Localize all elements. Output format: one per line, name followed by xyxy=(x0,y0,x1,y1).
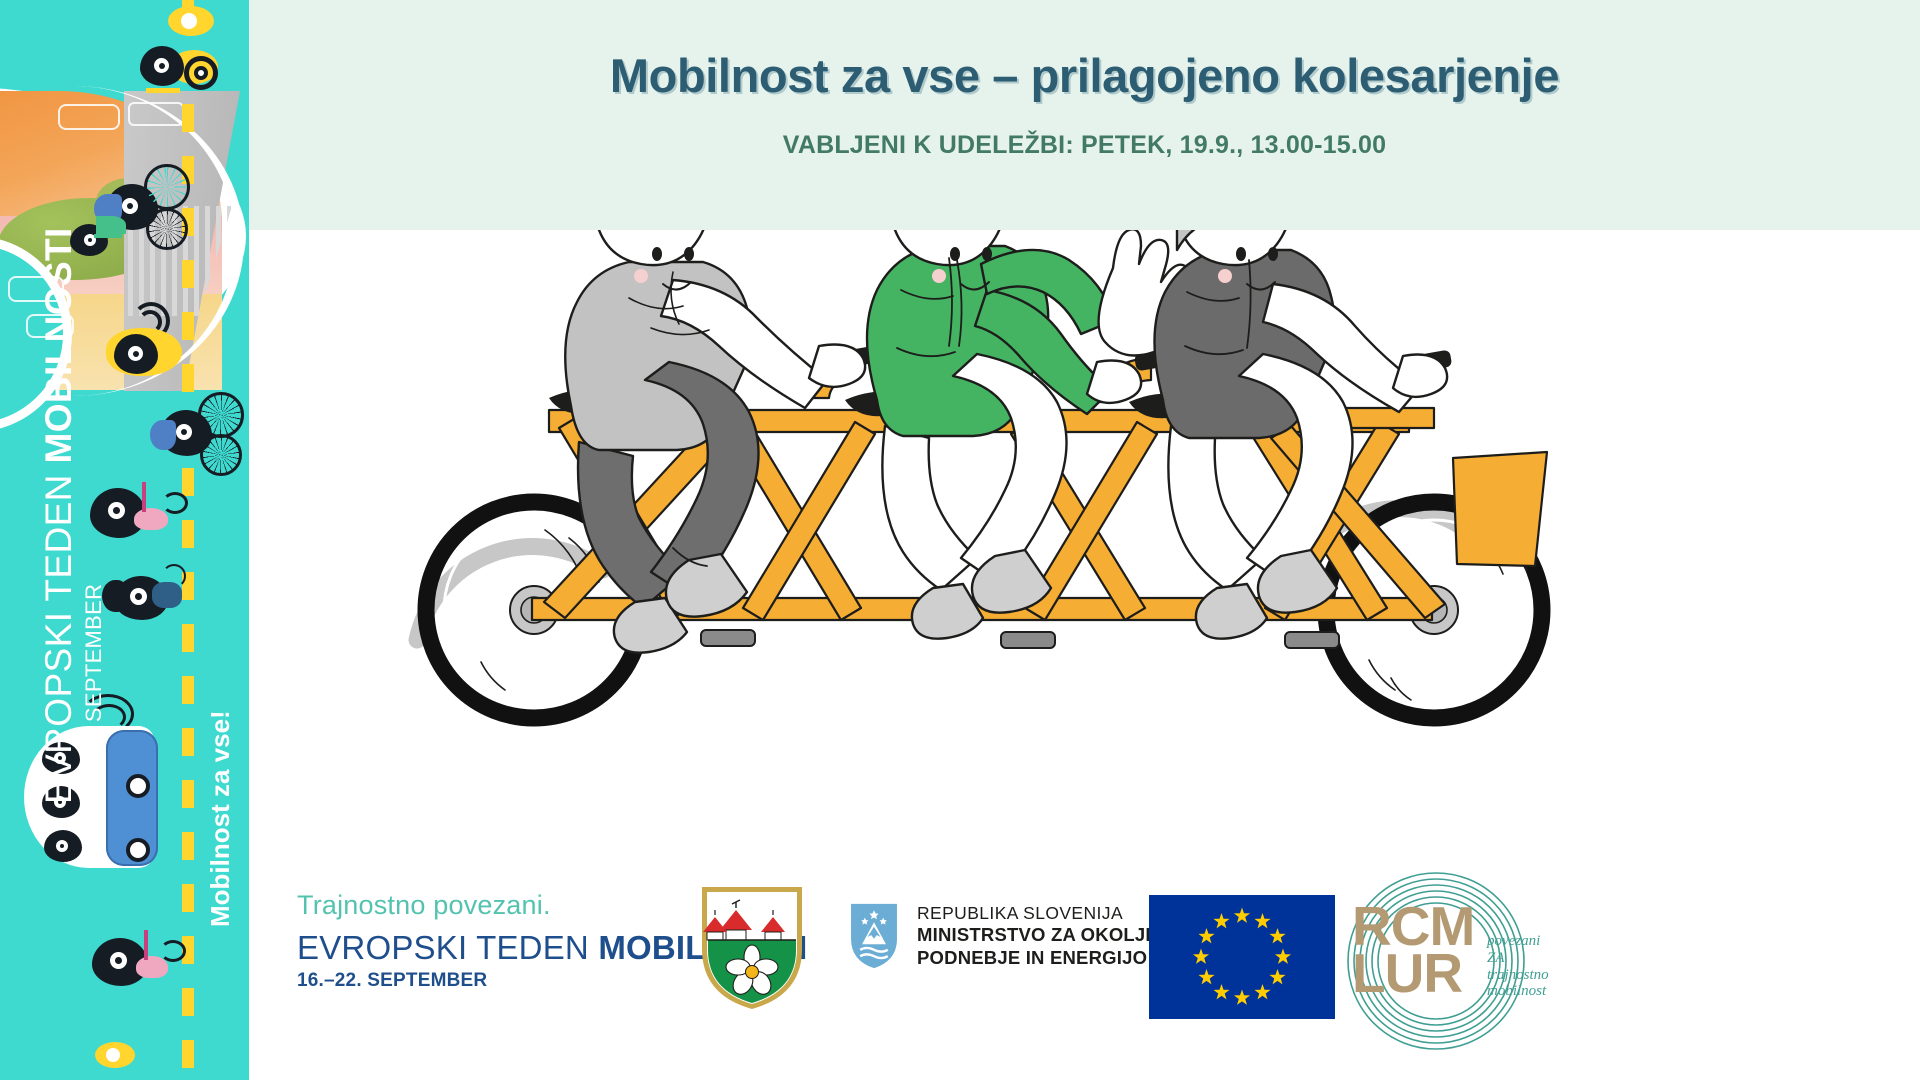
page-subtitle: VABLJENI K UDELEŽBI: PETEK, 19.9., 13.00… xyxy=(783,131,1386,160)
emw-name-light: EVROPSKI TEDEN xyxy=(297,929,598,966)
rcm-side-line3: trajnostno xyxy=(1487,967,1585,984)
emw-vertical-line2: 16.–22. SEPTEMBER xyxy=(81,584,107,804)
ministry-line2: MINISTRSTVO ZA OKOLJE, xyxy=(917,924,1163,947)
doodle-yellow-handcycle xyxy=(138,38,224,100)
european-union-flag xyxy=(1149,895,1335,1019)
rear-basket xyxy=(1453,452,1547,566)
slovenia-emblem-icon xyxy=(849,902,899,970)
rcm-wordmark: RCM LUR xyxy=(1352,903,1474,998)
emw-vertical-line1-bold: MOBILNOSTI xyxy=(38,227,79,463)
tandem-bicycle-illustration xyxy=(249,230,1920,850)
rcm-side-line4: mobilnost xyxy=(1487,983,1585,1000)
header-band: Mobilnost za vse – prilagojeno kolesarje… xyxy=(249,0,1920,230)
map-block-2 xyxy=(128,102,184,126)
rcm-side-line1: povezani xyxy=(1487,933,1585,950)
doodle-pink-tricycle xyxy=(90,482,190,544)
rcm-sidetext: povezani ZA trajnostno mobilnost xyxy=(1487,933,1585,1000)
emw-vertical-line1-light: EVROPSKI TEDEN xyxy=(38,464,79,804)
rcm-side-line2: ZA xyxy=(1487,950,1585,967)
rider-front xyxy=(565,230,865,653)
page-title: Mobilnost za vse – prilagojeno kolesarje… xyxy=(610,48,1559,103)
doodle-signal-bike xyxy=(100,560,204,630)
doodle-blue-handbike-2 xyxy=(148,392,249,476)
emw-vertical-banner: EVROPSKI TEDEN MOBILNOSTI 16.–22. SEPTEM… xyxy=(0,0,249,1080)
doodle-rear-cyclist xyxy=(92,928,188,994)
rcm-line2: LUR xyxy=(1352,950,1474,997)
doodle-yellow-scooter xyxy=(98,300,206,386)
slogan-vertical-text: Mobilnost za vse! xyxy=(205,587,239,927)
ministry-line1: REPUBLIKA SLOVENIJA xyxy=(917,903,1163,924)
municipal-coat-of-arms xyxy=(699,884,805,1012)
poster-canvas: EVROPSKI TEDEN MOBILNOSTI 16.–22. SEPTEM… xyxy=(0,0,1920,1080)
rcm-lur-logo: RCM LUR povezani ZA trajnostno mobilnost xyxy=(1324,867,1574,1055)
ministry-logo: REPUBLIKA SLOVENIJA MINISTRSTVO ZA OKOLJ… xyxy=(849,902,1163,970)
route-start-marker xyxy=(168,6,214,36)
route-end-marker xyxy=(95,1042,135,1068)
ministry-line3: PODNEBJE IN ENERGIJO xyxy=(917,947,1163,970)
footer-logo-row: Trajnostno povezani. EVROPSKI TEDEN MOBI… xyxy=(249,862,1920,1080)
emw-vertical-wordmark: EVROPSKI TEDEN MOBILNOSTI 16.–22. SEPTEM… xyxy=(40,44,104,804)
